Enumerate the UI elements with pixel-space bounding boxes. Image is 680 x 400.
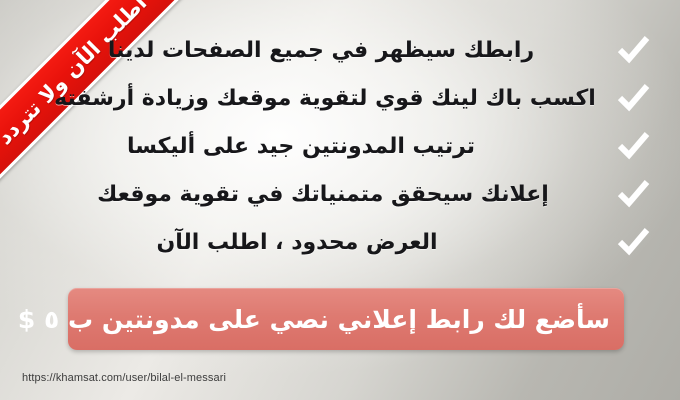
check-icon [616,129,650,163]
advertisement-banner: اطلب الآن ولا تتردد رابطك سيظهر في جميع … [0,0,680,400]
list-item: العرض محدود ، اطلب الآن [0,218,680,266]
list-item-label: رابطك سيظهر في جميع الصفحات لدينا [50,38,592,63]
check-icon [616,33,650,67]
check-icon [616,177,650,211]
list-item-label: إعلانك سيحقق متمنياتك في تقوية موقعك [52,182,594,207]
list-item: اكسب باك لينك قوي لتقوية موقعك وزيادة أر… [0,74,680,122]
check-icon [616,225,650,259]
profile-url[interactable]: https://khamsat.com/user/bilal-el-messar… [22,372,226,384]
list-item: ترتيب المدونتين جيد على أليكسا [0,122,680,170]
feature-list: رابطك سيظهر في جميع الصفحات لدينا اكسب ب… [0,26,680,266]
list-item: رابطك سيظهر في جميع الصفحات لدينا [0,26,680,74]
list-item-label: العرض محدود ، اطلب الآن [26,230,568,255]
check-icon [616,81,650,115]
list-item-label: اكسب باك لينك قوي لتقوية موقعك وزيادة أر… [54,86,596,111]
list-item-label: ترتيب المدونتين جيد على أليكسا [30,134,572,159]
list-item: إعلانك سيحقق متمنياتك في تقوية موقعك [0,170,680,218]
order-service-button[interactable]: سأضع لك رابط إعلاني نصي على مدونتين ب ٥ … [68,288,624,350]
